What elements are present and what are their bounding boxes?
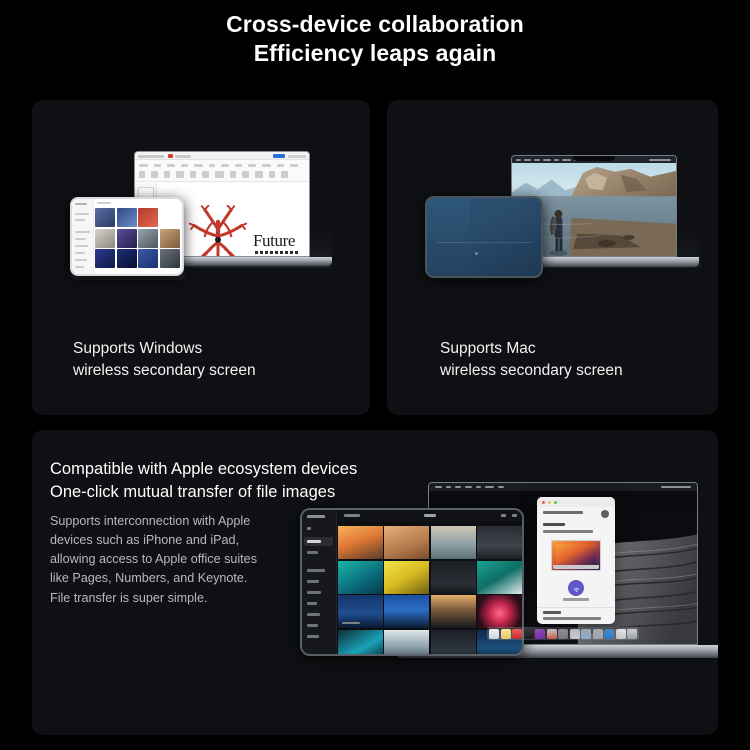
terminal-icon[interactable] (524, 629, 534, 639)
mac-dock[interactable] (487, 627, 639, 640)
photo-thumb (160, 229, 180, 248)
headline-line-1: Cross-device collaboration (226, 11, 524, 37)
page-title: Cross-device collaboration Efficiency le… (0, 10, 750, 69)
settings-icon[interactable] (558, 629, 568, 639)
gallery-photo[interactable] (384, 595, 429, 628)
photo-thumb (160, 208, 180, 227)
card-apple-ecosystem[interactable]: Compatible with Apple ecosystem devices … (32, 430, 718, 735)
files-icon[interactable] (616, 629, 626, 639)
card-caption-windows: Supports Windows wireless secondary scre… (73, 338, 256, 382)
finder-icon[interactable] (489, 629, 499, 639)
coral-artwork-icon (187, 205, 249, 257)
photos-icon[interactable] (604, 629, 614, 639)
gallery-photo[interactable] (477, 561, 522, 594)
gallery-photo[interactable] (431, 526, 476, 559)
avatar (601, 510, 609, 518)
photo-thumb (138, 249, 158, 268)
airdrop-share-dialog[interactable] (537, 497, 615, 624)
trash-icon[interactable] (627, 629, 637, 639)
gallery-photo[interactable] (431, 595, 476, 628)
dialog-section-label (543, 523, 565, 526)
slide-text-right: Future (253, 231, 295, 251)
app-ribbon (135, 160, 309, 182)
card-supports-windows[interactable]: nts Future (32, 100, 370, 415)
gallery-photo[interactable] (338, 526, 383, 559)
app-titlebar (135, 152, 309, 160)
gallery-photo[interactable] (384, 526, 429, 559)
gallery-photo[interactable] (431, 561, 476, 594)
gallery-topbar (338, 510, 522, 522)
gallery-photo[interactable] (477, 595, 522, 628)
photo-thumb (95, 249, 115, 268)
mac-menu-bar (429, 483, 697, 491)
podcasts-icon[interactable] (535, 629, 545, 639)
gallery-photo[interactable] (477, 526, 522, 559)
card-caption-mac: Supports Mac wireless secondary screen (440, 338, 623, 382)
photo-thumb (95, 208, 115, 227)
maximize-icon[interactable] (554, 501, 557, 504)
bottom-card-title: Compatible with Apple ecosystem devices … (50, 458, 357, 504)
gallery-photo[interactable] (431, 630, 476, 657)
photo-thumb (160, 249, 180, 268)
bottom-card-body: Supports interconnection with Apple devi… (50, 512, 305, 608)
tablet-screen-left-pane (427, 198, 470, 276)
card-supports-mac[interactable]: Supports Mac wireless secondary screen (387, 100, 718, 415)
music-icon[interactable] (512, 629, 522, 639)
windows-tablet (70, 197, 184, 276)
gallery-photo[interactable] (384, 561, 429, 594)
gallery-photo[interactable] (338, 561, 383, 594)
promo-page: Cross-device collaboration Efficiency le… (0, 0, 750, 750)
photos-sidebar (72, 199, 94, 274)
keynote-icon[interactable] (581, 629, 591, 639)
gallery-sidebar (302, 510, 337, 654)
photos-grid (95, 208, 180, 272)
headline-line-2: Efficiency leaps again (0, 39, 750, 68)
notes-icon[interactable] (501, 629, 511, 639)
pages-icon[interactable] (570, 629, 580, 639)
airdrop-device-name (563, 598, 589, 601)
gallery-photo[interactable] (384, 630, 429, 657)
dialog-titlebar (537, 497, 615, 507)
close-icon[interactable] (542, 501, 545, 504)
screen-notch (573, 156, 615, 161)
mac-tablet (425, 196, 543, 278)
photo-thumb (117, 208, 137, 227)
dialog-section-sub (543, 530, 593, 533)
slide-subtext (255, 251, 299, 254)
photo-thumb (117, 249, 137, 268)
airdrop-icon[interactable] (568, 580, 584, 596)
gallery-photo[interactable] (338, 630, 383, 657)
photo-thumb (95, 229, 115, 248)
dialog-heading (543, 511, 583, 514)
news-icon[interactable] (547, 629, 557, 639)
numbers-icon[interactable] (593, 629, 603, 639)
photo-thumb (138, 208, 158, 227)
photo-thumb (117, 229, 137, 248)
minimize-icon[interactable] (548, 501, 551, 504)
photo-thumb (138, 229, 158, 248)
share-preview-thumbnail[interactable] (551, 540, 601, 571)
